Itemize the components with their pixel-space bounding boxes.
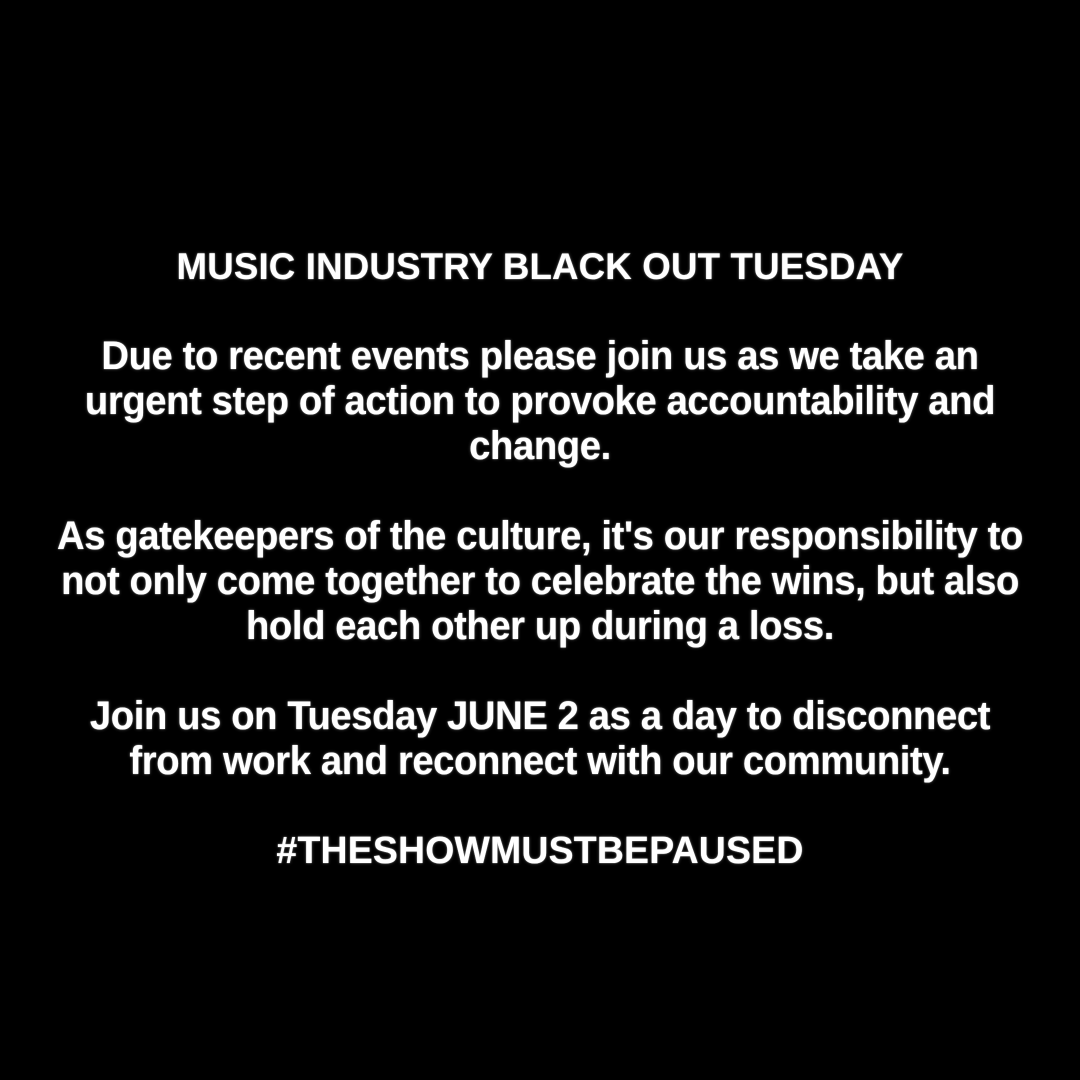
paragraph-join-us: Join us on Tuesday JUNE 2 as a day to di… [24, 694, 1056, 784]
event-date: JUNE 2 [447, 694, 578, 738]
join-us-prefix: Join us on Tuesday [90, 694, 447, 738]
spacer-between-paragraphs [24, 469, 1056, 514]
paragraph-line: hold each other up during a loss. [47, 604, 1033, 649]
paragraph-line: change. [47, 424, 1033, 469]
spacer-between-paragraphs [24, 649, 1056, 694]
paragraph-urgent-step: Due to recent events please join us as w… [24, 334, 1056, 469]
page-title: MUSIC INDUSTRY BLACK OUT TUESDAY [29, 243, 1051, 291]
paragraph-gatekeepers: As gatekeepers of the culture, it's our … [24, 514, 1056, 649]
statement-block: MUSIC INDUSTRY BLACK OUT TUESDAY Due to … [0, 243, 1080, 874]
paragraph-line: urgent step of action to provoke account… [47, 379, 1033, 424]
join-us-suffix: as a day to disconnect [579, 694, 991, 738]
spacer-before-hashtag [24, 784, 1056, 828]
paragraph-line: from work and reconnect with our communi… [47, 739, 1033, 784]
campaign-hashtag: #THESHOWMUSTBEPAUSED [32, 828, 1049, 874]
paragraph-line: not only come together to celebrate the … [47, 559, 1033, 604]
spacer-after-headline [24, 291, 1056, 334]
paragraph-line: As gatekeepers of the culture, it's our … [47, 514, 1033, 559]
paragraph-line: Due to recent events please join us as w… [47, 334, 1033, 379]
black-out-tuesday-poster: MUSIC INDUSTRY BLACK OUT TUESDAY Due to … [0, 0, 1080, 1080]
paragraph-line-with-date: Join us on Tuesday JUNE 2 as a day to di… [47, 694, 1033, 739]
